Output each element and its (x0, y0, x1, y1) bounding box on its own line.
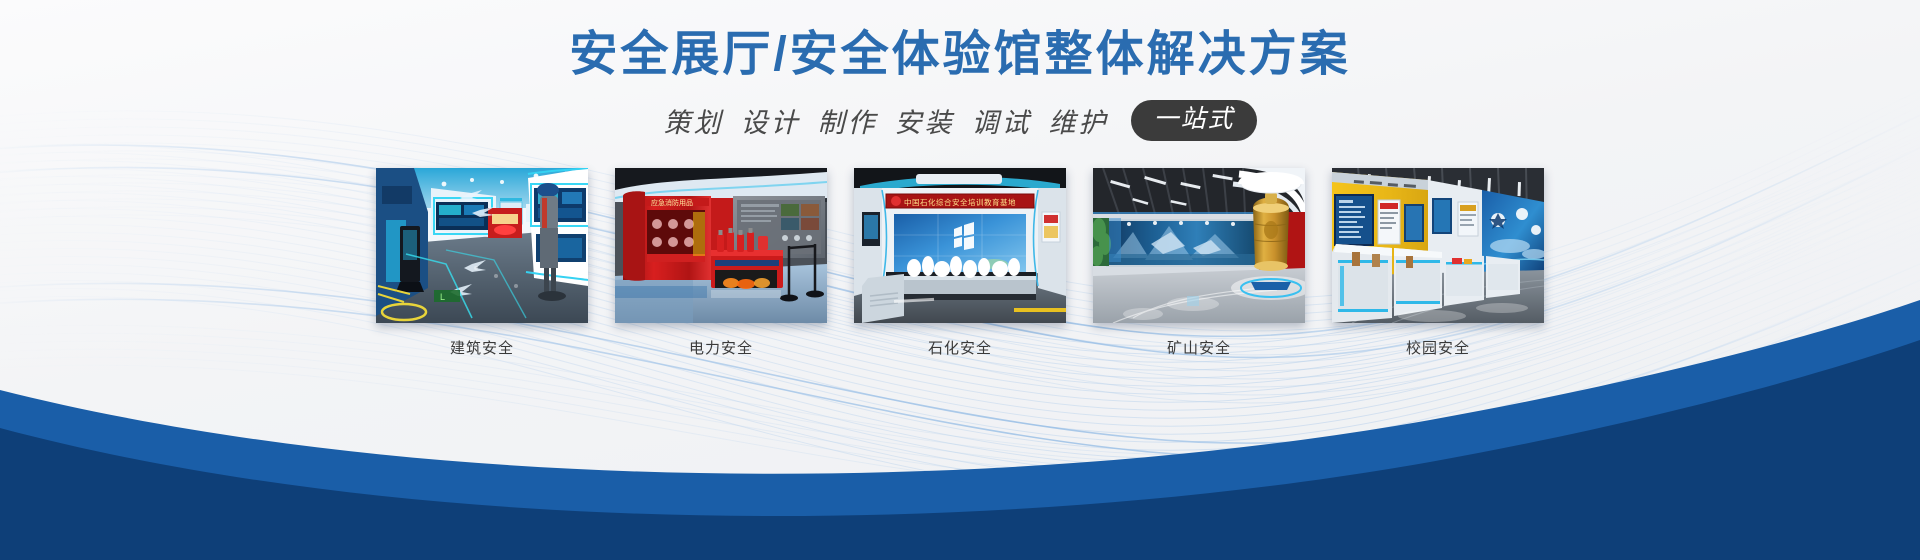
gallery-caption-electric: 电力安全 (689, 337, 753, 358)
gallery-card-electric[interactable]: 应急消防用品 (615, 168, 827, 358)
safety-exhibition-banner: 安全展厅/安全体验馆整体解决方案 策划 设计 制作 安装 调试 维护 一站式 (0, 0, 1920, 560)
service-step-production: 制作 (817, 101, 877, 140)
svg-text:L: L (440, 292, 445, 302)
gallery-caption-campus: 校园安全 (1406, 337, 1470, 358)
thumbnail-construction-safety[interactable]: L (376, 168, 588, 323)
gallery-card-petrochemical[interactable]: 中国石化综合安全培训教育基地 (854, 168, 1066, 358)
banner-content: 安全展厅/安全体验馆整体解决方案 策划 设计 制作 安装 调试 维护 一站式 (0, 0, 1920, 560)
gallery-card-mining[interactable]: 矿山安全 (1093, 168, 1305, 358)
thumbnail-mining-safety[interactable] (1093, 168, 1305, 323)
gallery-caption-construction: 建筑安全 (450, 337, 514, 358)
one-stop-badge: 一站式 (1131, 100, 1256, 141)
gallery-card-campus[interactable]: 校园安全 (1332, 168, 1544, 358)
exhibition-gallery: L (0, 168, 1920, 358)
svg-text:中国石化综合安全培训教育基地: 中国石化综合安全培训教育基地 (904, 197, 1016, 207)
gallery-caption-mining: 矿山安全 (1167, 337, 1231, 358)
service-step-planning: 策划 (663, 101, 723, 140)
service-step-install: 安装 (894, 101, 954, 140)
gallery-caption-petrochemical: 石化安全 (928, 337, 992, 358)
service-step-maintain: 维护 (1048, 101, 1108, 140)
page-title: 安全展厅/安全体验馆整体解决方案 (0, 26, 1920, 84)
thumbnail-petrochemical-safety[interactable]: 中国石化综合安全培训教育基地 (854, 168, 1066, 323)
service-step-debug: 调试 (971, 101, 1031, 140)
gallery-card-construction[interactable]: L (376, 168, 588, 358)
thumbnail-electric-safety[interactable]: 应急消防用品 (615, 168, 827, 323)
service-steps-row: 策划 设计 制作 安装 调试 维护 一站式 (0, 100, 1920, 141)
service-step-design: 设计 (740, 101, 800, 140)
thumbnail-campus-safety[interactable] (1332, 168, 1544, 323)
svg-text:应急消防用品: 应急消防用品 (651, 198, 693, 207)
